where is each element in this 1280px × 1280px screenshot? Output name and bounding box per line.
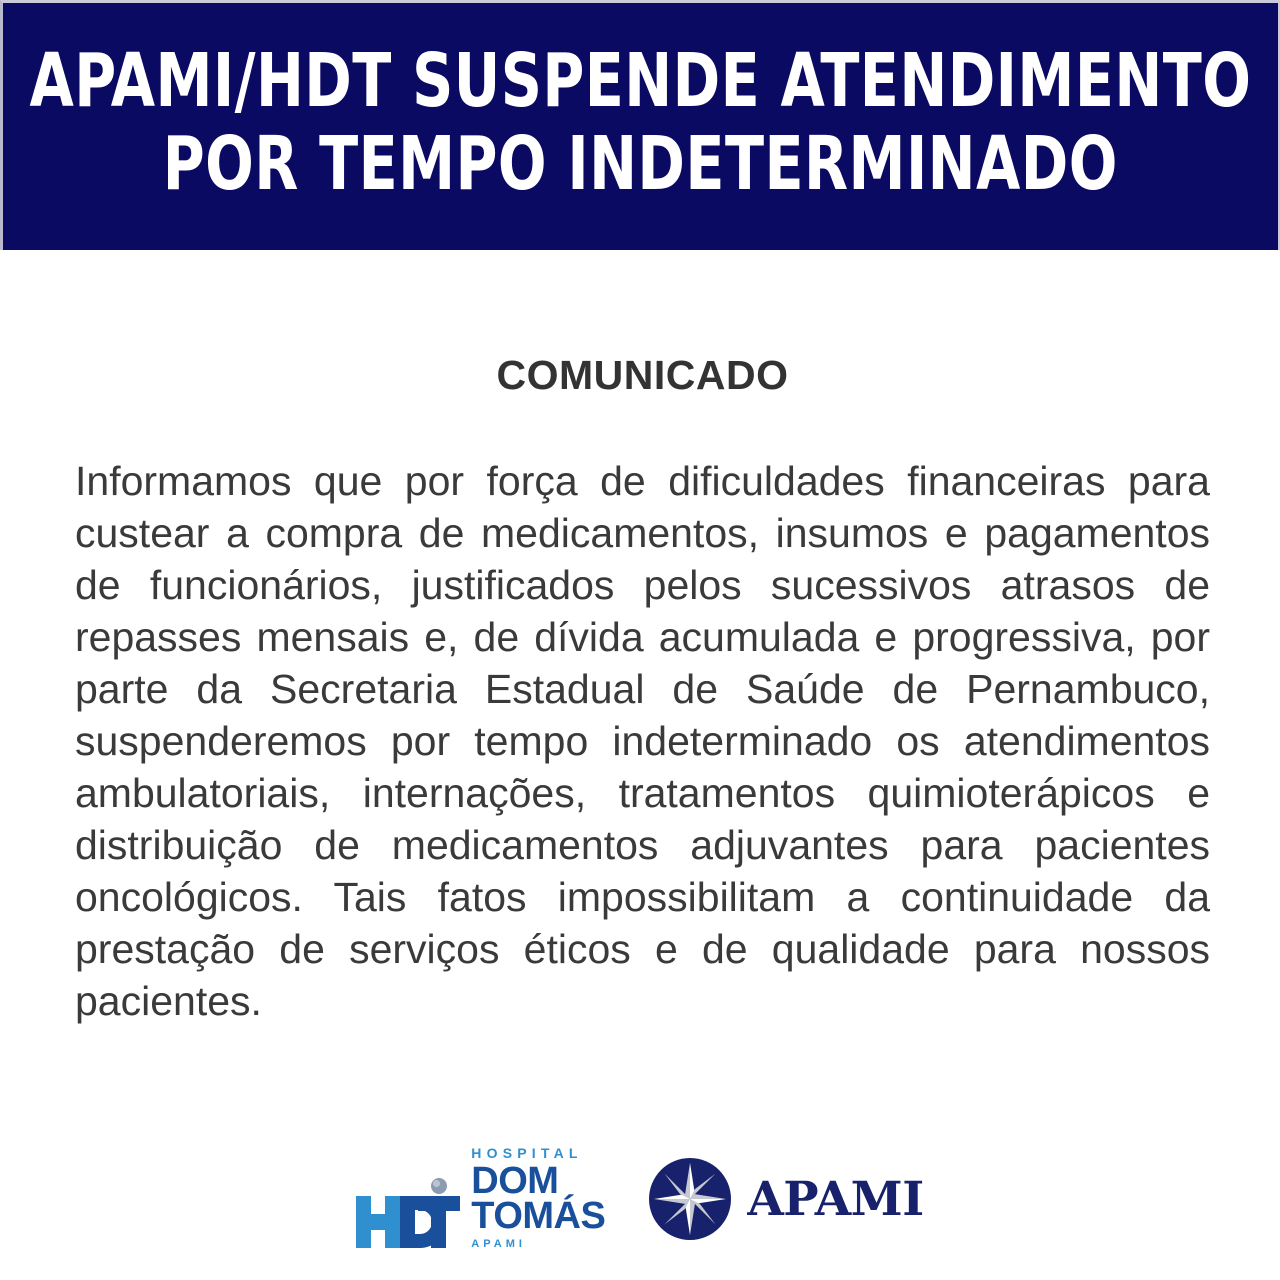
notice-body-text: Informamos que por força de dificuldades…	[75, 458, 1210, 1024]
hdt-sub-label: APAMI	[471, 1239, 526, 1250]
hdt-logo: HOSPITAL DOM TOMÁS APAMI	[356, 1146, 605, 1252]
hdt-name-line-1: DOM	[471, 1164, 558, 1199]
page-title: COMUNICADO	[75, 352, 1210, 399]
hdt-eyebrow-label: HOSPITAL	[471, 1146, 582, 1160]
apami-logo: APAMI	[649, 1158, 923, 1240]
notice-content: COMUNICADO Informamos que por força de d…	[0, 250, 1280, 1280]
banner-headline-line-2: POR TEMPO INDETERMINADO	[163, 128, 1118, 201]
notice-body: Informamos que por força de dificuldades…	[75, 455, 1210, 1027]
header-banner: APAMI/HDT SUSPENDE ATENDIMENTO POR TEMPO…	[0, 0, 1280, 250]
apami-compass-star-icon	[649, 1158, 731, 1240]
hdt-name-line-2: TOMÁS	[471, 1199, 605, 1234]
logo-row: HOSPITAL DOM TOMÁS APAMI	[0, 1146, 1280, 1252]
hdt-wordmark: HOSPITAL DOM TOMÁS APAMI	[471, 1146, 605, 1252]
apami-wordmark: APAMI	[747, 1172, 923, 1227]
announcement-poster: APAMI/HDT SUSPENDE ATENDIMENTO POR TEMPO…	[0, 0, 1280, 1280]
banner-headline-line-1: APAMI/HDT SUSPENDE ATENDIMENTO	[30, 45, 1252, 118]
hdt-monogram-icon	[356, 1178, 460, 1252]
